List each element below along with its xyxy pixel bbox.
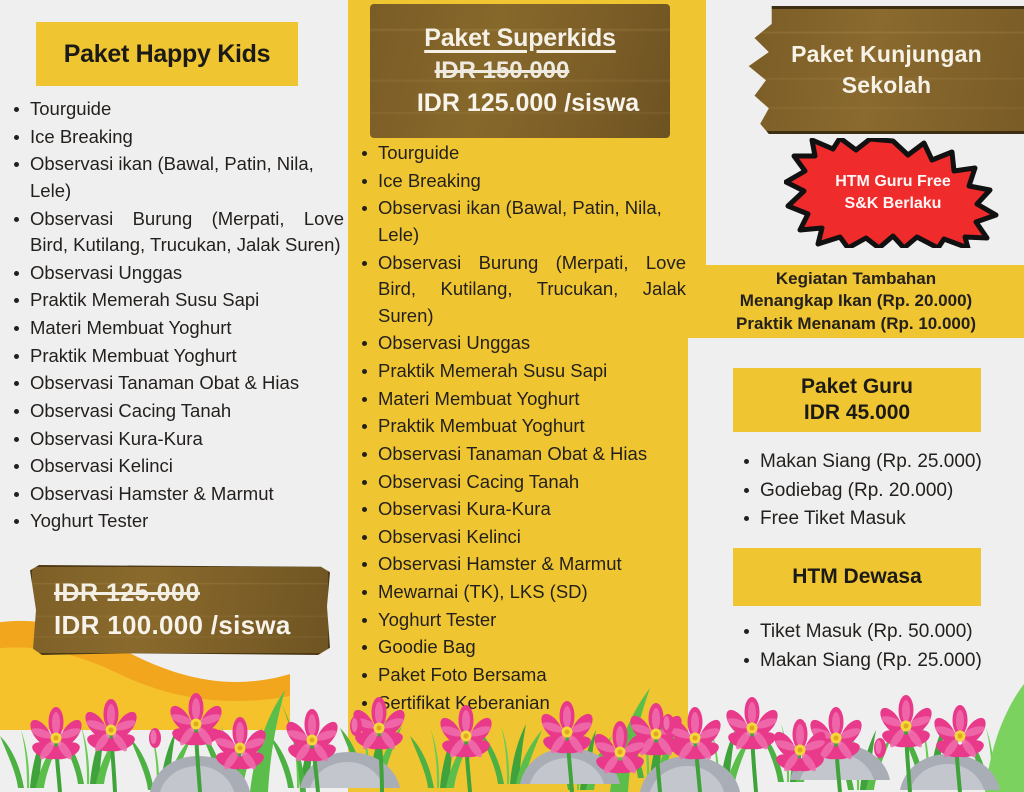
list-item: Tiket Masuk (Rp. 50.000) [736,618,1024,646]
happy-kids-title: Paket Happy Kids [64,40,270,69]
extra-activity-2: Praktik Menanam (Rp. 10.000) [736,313,976,336]
paket-guru-price: IDR 45.000 [804,400,910,426]
extra-activities-block: Kegiatan Tambahan Menangkap Ikan (Rp. 20… [688,265,1024,338]
paket-guru-title: Paket Guru [801,374,913,400]
promo-poster: Paket Happy Kids Tourguide Ice Breaking … [0,0,1024,792]
kunjungan-title-line1: Paket Kunjungan [791,41,982,68]
list-item: Observasi Kelinci [356,524,686,551]
happy-kids-title-banner: Paket Happy Kids [36,22,298,86]
list-item: Makan Siang (Rp. 25.000) [736,448,1024,476]
list-item: Observasi Hamster & Marmut [8,481,344,508]
extra-activity-1: Menangkap Ikan (Rp. 20.000) [740,290,972,313]
happy-kids-old-price: IDR 125.000 [54,579,328,608]
list-item: Yoghurt Tester [8,508,344,535]
paket-guru-title-banner: Paket Guru IDR 45.000 [733,368,981,432]
starburst-badge-icon [784,138,1002,248]
kunjungan-title-wood-sign: Paket Kunjungan Sekolah [743,6,1024,134]
list-item: Observasi Cacing Tanah [356,469,686,496]
list-item: Observasi ikan (Bawal, Patin, Nila, Lele… [8,151,344,204]
extra-activities-heading: Kegiatan Tambahan [776,268,936,291]
list-item: Observasi Kura-Kura [356,496,686,523]
superkids-title: Paket Superkids [424,24,616,53]
superkids-new-price: IDR 125.000 /siswa [417,89,639,118]
paket-guru-feature-list: Makan Siang (Rp. 25.000) Godiebag (Rp. 2… [736,448,1024,534]
happy-kids-new-price: IDR 100.000 /siswa [54,610,328,641]
list-item: Observasi Cacing Tanah [8,398,344,425]
list-item: Ice Breaking [356,168,686,195]
superkids-title-wood-sign: Paket Superkids IDR 150.000 IDR 125.000 … [370,4,670,138]
list-item: Observasi Tanaman Obat & Hias [8,370,344,397]
happy-kids-price-wood-sign: IDR 125.000 IDR 100.000 /siswa [30,565,330,655]
kunjungan-title-line2: Sekolah [842,72,932,99]
happy-kids-feature-list: Tourguide Ice Breaking Observasi ikan (B… [8,96,344,536]
list-item: Tourguide [356,140,686,167]
list-item: Observasi Burung (Merpati, Love Bird, Ku… [8,206,344,259]
list-item: Observasi ikan (Bawal, Patin, Nila, Lele… [356,195,686,248]
list-item: Tourguide [8,96,344,123]
list-item: Praktik Membuat Yoghurt [8,343,344,370]
list-item: Godiebag (Rp. 20.000) [736,477,1024,505]
list-item: Observasi Tanaman Obat & Hias [356,441,686,468]
list-item: Praktik Memerah Susu Sapi [8,287,344,314]
list-item: Praktik Membuat Yoghurt [356,413,686,440]
list-item: Praktik Memerah Susu Sapi [356,358,686,385]
list-item: Observasi Hamster & Marmut [356,551,686,578]
list-item: Observasi Unggas [8,260,344,287]
wood-grain-texture [746,9,1024,131]
list-item: Observasi Kelinci [8,453,344,480]
list-item: Observasi Burung (Merpati, Love Bird, Ku… [356,250,686,330]
superkids-feature-list: Tourguide Ice Breaking Observasi ikan (B… [356,140,686,717]
list-item: Materi Membuat Yoghurt [356,386,686,413]
list-item: Ice Breaking [8,124,344,151]
flower-garden-border-decoration [0,652,1024,792]
htm-dewasa-title-banner: HTM Dewasa [733,548,981,606]
list-item: Free Tiket Masuk [736,505,1024,533]
list-item: Yoghurt Tester [356,607,686,634]
superkids-old-price: IDR 150.000 [435,57,570,85]
list-item: Mewarnai (TK), LKS (SD) [356,579,686,606]
htm-dewasa-title: HTM Dewasa [792,564,922,590]
list-item: Materi Membuat Yoghurt [8,315,344,342]
list-item: Observasi Unggas [356,330,686,357]
list-item: Observasi Kura-Kura [8,426,344,453]
